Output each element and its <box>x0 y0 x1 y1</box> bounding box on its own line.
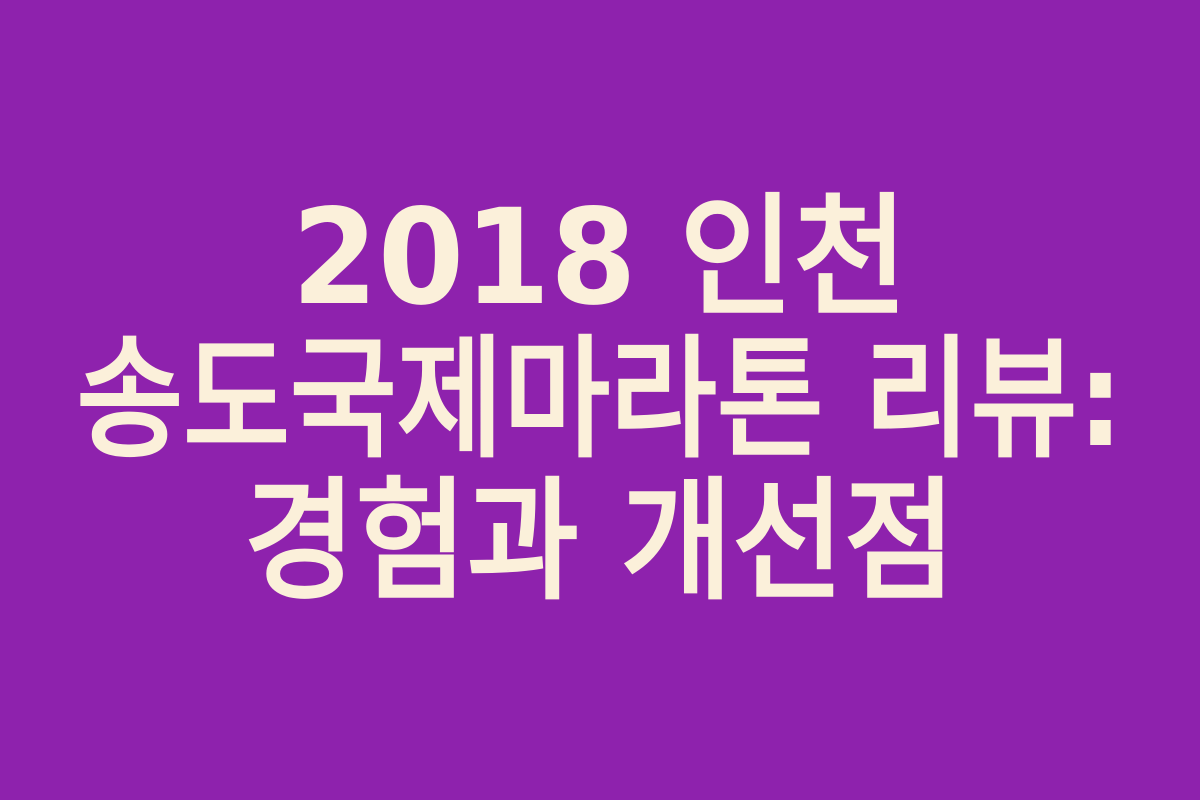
headline-line-1: 2018 인천 <box>292 187 908 329</box>
headline-line-3: 경험과 개선점 <box>244 471 956 613</box>
headline-line-2: 송도국제마라톤 리뷰: <box>76 329 1123 471</box>
title-card: 2018 인천 송도국제마라톤 리뷰: 경험과 개선점 <box>0 0 1200 800</box>
headline-block: 2018 인천 송도국제마라톤 리뷰: 경험과 개선점 <box>0 187 1200 613</box>
